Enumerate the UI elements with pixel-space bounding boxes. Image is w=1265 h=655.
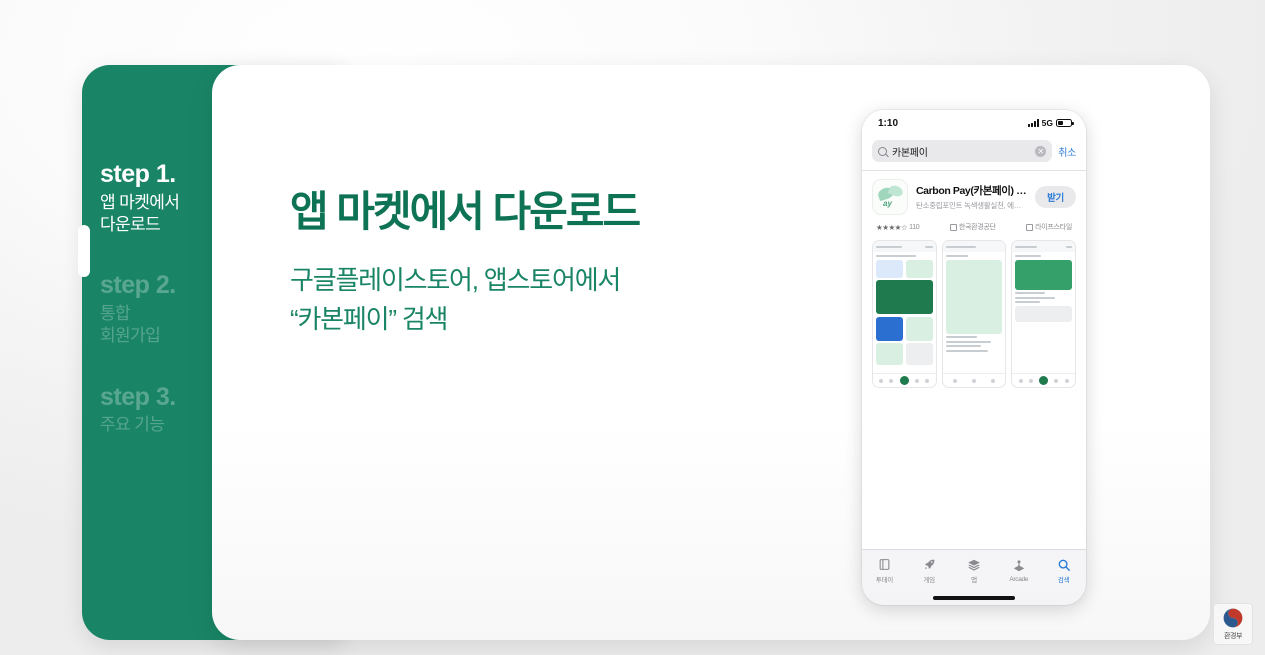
signal-icon — [1028, 119, 1038, 127]
sidebar-item-step-2[interactable]: step 2. 통합 회원가입 — [100, 272, 212, 347]
app-screenshot-2[interactable] — [942, 240, 1007, 388]
star-rating-icon: ★★★★☆ — [876, 223, 907, 232]
step-3-sublabel: 주요 기능 — [100, 414, 212, 436]
step-1-sublabel: 앱 마켓에서 다운로드 — [100, 192, 212, 237]
status-time: 1:10 — [878, 118, 898, 129]
category-stat: 라이프스타일 — [1026, 222, 1072, 232]
tab-search[interactable]: 검색 — [1041, 557, 1086, 584]
page-subtitle: 구글플레이스토어, 앱스토어에서 “카본페이” 검색 — [290, 261, 810, 338]
tab-apps[interactable]: 앱 — [952, 557, 997, 584]
sidebar-item-step-3[interactable]: step 3. 주요 기능 — [100, 384, 212, 437]
network-label: 5G — [1042, 118, 1053, 128]
app-stats-row: ★★★★☆ 110 한국환경공단 라이프스타일 — [872, 215, 1076, 238]
tab-games-label: 게임 — [924, 574, 935, 584]
developer-name: 한국환경공단 — [959, 222, 996, 232]
main-content: 앱 마켓에서 다운로드 구글플레이스토어, 앱스토어에서 “카본페이” 검색 — [290, 188, 810, 338]
category-icon — [1026, 224, 1033, 231]
step-1-label: step 1. — [100, 161, 212, 189]
sidebar-item-step-1[interactable]: step 1. 앱 마켓에서 다운로드 — [100, 161, 212, 236]
tab-arcade[interactable]: Arcade — [996, 559, 1041, 583]
step-3-label: step 3. — [100, 384, 212, 412]
step-2-label: step 2. — [100, 272, 212, 300]
home-indicator — [862, 591, 1086, 605]
cancel-button[interactable]: 취소 — [1058, 144, 1076, 159]
rocket-icon — [923, 557, 936, 572]
search-icon — [878, 147, 887, 156]
battery-icon — [1056, 119, 1072, 127]
app-icon: ay — [872, 179, 908, 215]
ministry-logo: 환경부 — [1213, 603, 1253, 645]
tab-apps-label: 앱 — [971, 574, 977, 584]
developer-stat: 한국환경공단 — [950, 222, 996, 232]
phone-mockup: 1:10 5G 카본페이 ✕ 취소 — [862, 110, 1086, 605]
status-bar: 1:10 5G — [862, 110, 1086, 136]
step-2-sublabel: 통합 회원가입 — [100, 303, 212, 348]
ministry-logo-text: 환경부 — [1224, 631, 1242, 641]
tab-arcade-label: Arcade — [1009, 576, 1028, 583]
search-icon — [1057, 557, 1071, 572]
app-icon-text: ay — [883, 199, 892, 208]
status-indicators: 5G — [1028, 118, 1072, 128]
app-result-card[interactable]: ay Carbon Pay(카본페이) -… 탄소중립포인트 녹색생활실천, 에… — [862, 171, 1086, 238]
app-preview-list — [862, 238, 1086, 388]
tab-games[interactable]: 게임 — [907, 557, 952, 584]
tab-today[interactable]: 투데이 — [862, 557, 907, 584]
app-screenshot-1[interactable] — [872, 240, 937, 388]
app-name: Carbon Pay(카본페이) -… — [916, 183, 1027, 198]
app-result-row: ay Carbon Pay(카본페이) -… 탄소중립포인트 녹색생활실천, 에… — [872, 179, 1076, 215]
tab-bar: 투데이 게임 앱 — [862, 549, 1086, 591]
developer-icon — [950, 224, 957, 231]
tab-today-label: 투데이 — [876, 574, 893, 584]
app-screenshot-3[interactable] — [1011, 240, 1076, 388]
search-row: 카본페이 ✕ 취소 — [862, 136, 1086, 170]
tab-search-label: 검색 — [1058, 574, 1069, 584]
stack-icon — [967, 557, 981, 572]
slide: step 1. 앱 마켓에서 다운로드 step 2. 통합 회원가입 step… — [0, 0, 1265, 655]
search-input[interactable]: 카본페이 ✕ — [872, 140, 1052, 162]
search-value: 카본페이 — [892, 144, 1030, 159]
active-step-indicator — [78, 225, 90, 277]
page-title: 앱 마켓에서 다운로드 — [290, 188, 810, 235]
today-icon — [878, 557, 891, 572]
clear-icon[interactable]: ✕ — [1035, 146, 1046, 157]
rating-count: 110 — [909, 224, 919, 231]
arcade-icon — [1012, 559, 1026, 574]
get-button[interactable]: 받기 — [1035, 186, 1076, 208]
taegeuk-icon — [1222, 607, 1244, 629]
steps-sidebar: step 1. 앱 마켓에서 다운로드 step 2. 통합 회원가입 step… — [82, 65, 212, 640]
app-meta: Carbon Pay(카본페이) -… 탄소중립포인트 녹색생활실천, 에너… — [916, 183, 1027, 211]
rating-stat: ★★★★☆ 110 — [876, 223, 919, 232]
app-description: 탄소중립포인트 녹색생활실천, 에너… — [916, 200, 1027, 211]
phone-screen: 1:10 5G 카본페이 ✕ 취소 — [862, 110, 1086, 549]
category-name: 라이프스타일 — [1035, 222, 1072, 232]
